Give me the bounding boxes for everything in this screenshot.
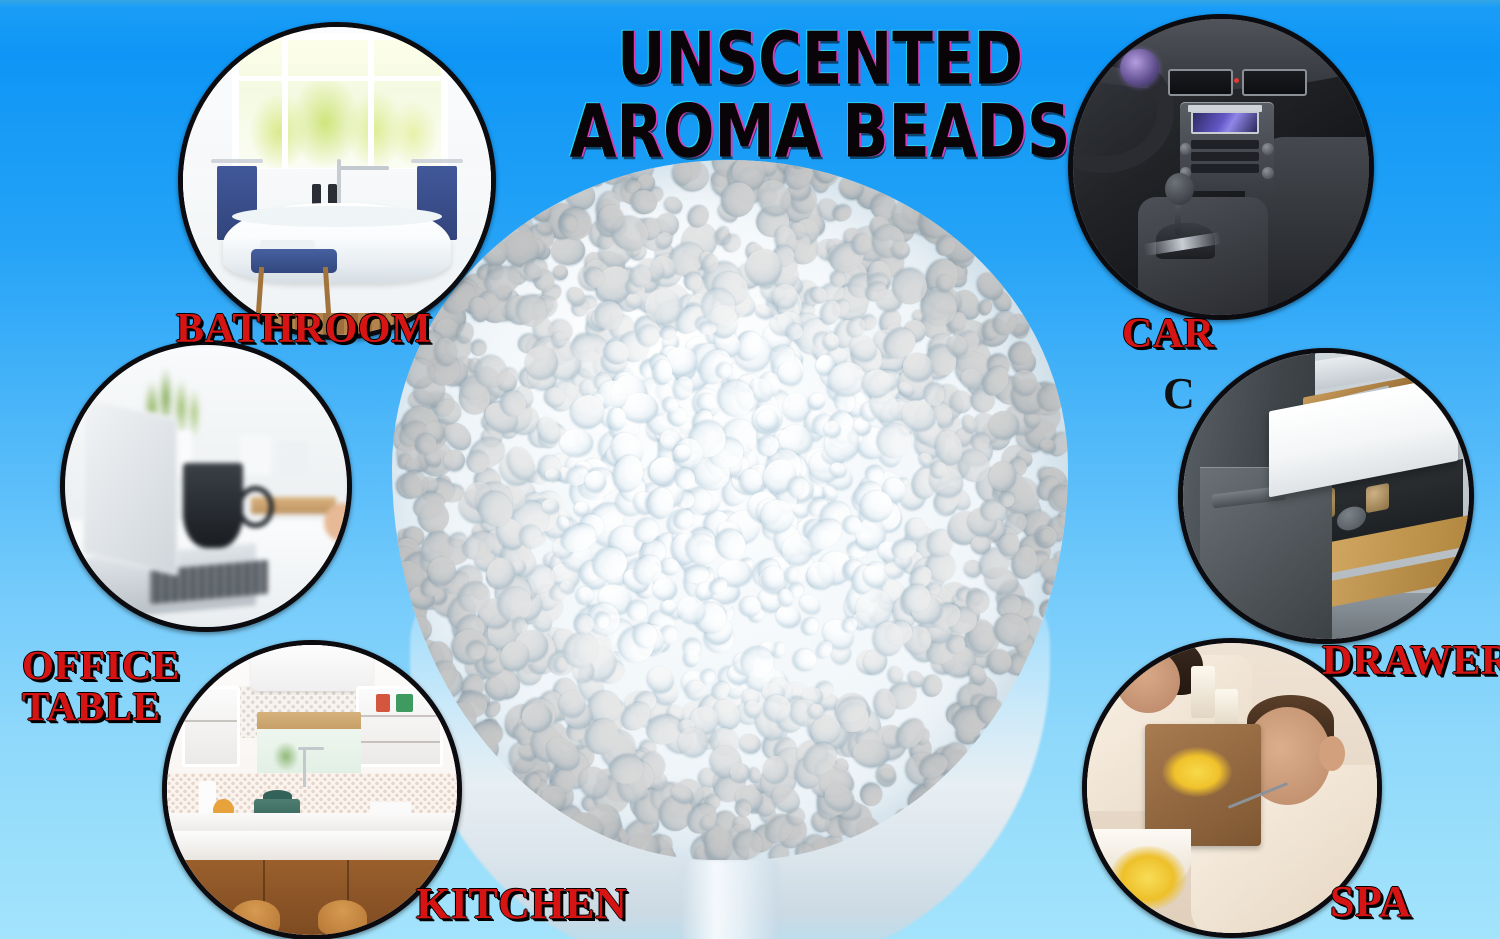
air-vent-right <box>1242 69 1307 96</box>
island-wood-base <box>167 860 457 935</box>
green-canister <box>396 694 413 711</box>
bathroom-scene <box>183 27 491 335</box>
bead <box>791 647 818 674</box>
bathtub-interior <box>232 206 441 228</box>
yellow-flower-bowl <box>1110 846 1185 910</box>
sink-faucet <box>303 749 306 787</box>
towel-rod-left <box>211 159 263 163</box>
inset-car[interactable] <box>1068 14 1374 320</box>
label-office-table: OFFICE TABLE <box>22 645 180 727</box>
bead <box>748 767 762 784</box>
inset-office-table[interactable] <box>60 340 352 632</box>
red-canister <box>376 694 391 711</box>
bathtub-faucet-arm <box>337 166 389 170</box>
console-button-row-3 <box>1191 164 1259 173</box>
bead <box>798 615 821 639</box>
title-line-2: AROMA BEADS <box>551 95 1089 170</box>
upper-cabinet-left <box>182 686 240 767</box>
bathtub-faucet <box>337 159 341 208</box>
console-button-row-2 <box>1191 152 1259 161</box>
car-scene <box>1073 19 1369 315</box>
man-ear <box>1319 736 1345 771</box>
sink-faucet-arm <box>298 747 324 750</box>
label-kitchen: KITCHEN <box>416 882 627 926</box>
cabinet-shelf-left <box>184 720 236 722</box>
label-bathroom: BATHROOM <box>176 308 431 350</box>
cabinet-shelf-right-2 <box>358 741 439 743</box>
drawer-scene <box>1183 353 1469 639</box>
window-mullion-3 <box>232 76 448 81</box>
coffee-mug <box>183 463 242 548</box>
label-office-line-1: OFFICE <box>22 645 180 686</box>
inset-bathroom[interactable] <box>178 22 496 340</box>
woman-face <box>1116 649 1180 713</box>
label-spa: SPA <box>1330 880 1411 924</box>
bar-stool-left <box>231 900 280 935</box>
kitchen-scene <box>167 645 457 935</box>
air-vent-left <box>1168 69 1233 96</box>
infotainment-display <box>1191 111 1259 135</box>
bead-pile <box>392 160 1068 860</box>
bathroom-foliage <box>245 76 436 168</box>
desk-cup-1 <box>240 435 271 474</box>
office-scene <box>65 345 347 627</box>
bead <box>683 639 701 657</box>
spa-candle-1 <box>1191 666 1214 718</box>
aroma-beads-hero <box>392 160 1068 880</box>
bar-stool-right <box>318 900 367 935</box>
bead <box>873 688 897 719</box>
island-surface <box>167 831 457 860</box>
instrument-gauge <box>1120 49 1158 87</box>
bead <box>560 429 593 456</box>
label-car: CAR <box>1122 313 1215 355</box>
page-title: UNSCENTED AROMA BEADS <box>551 22 1089 170</box>
window-mullion-2 <box>368 33 374 169</box>
spice-jar-2 <box>1366 482 1389 512</box>
window-mullion-1 <box>282 33 288 169</box>
poster-canvas: UNSCENTED AROMA BEADS <box>0 0 1500 939</box>
cabinet-shelf-right-1 <box>358 715 439 717</box>
bead <box>551 236 585 264</box>
bead <box>873 621 904 656</box>
label-office-line-2: TABLE <box>22 686 180 727</box>
desk-cup-2 <box>279 441 307 475</box>
range-hood <box>251 645 373 691</box>
title-line-1: UNSCENTED <box>551 22 1089 95</box>
bowl-stem <box>682 860 778 939</box>
console-button-row-1 <box>1191 140 1259 149</box>
label-drawer: DRAWER <box>1322 640 1500 682</box>
towel-rod-right <box>411 159 463 163</box>
laptop-screen <box>82 396 178 576</box>
yellow-flower-tray <box>1162 747 1232 796</box>
bead <box>736 731 763 756</box>
inset-drawer[interactable] <box>1178 348 1474 644</box>
